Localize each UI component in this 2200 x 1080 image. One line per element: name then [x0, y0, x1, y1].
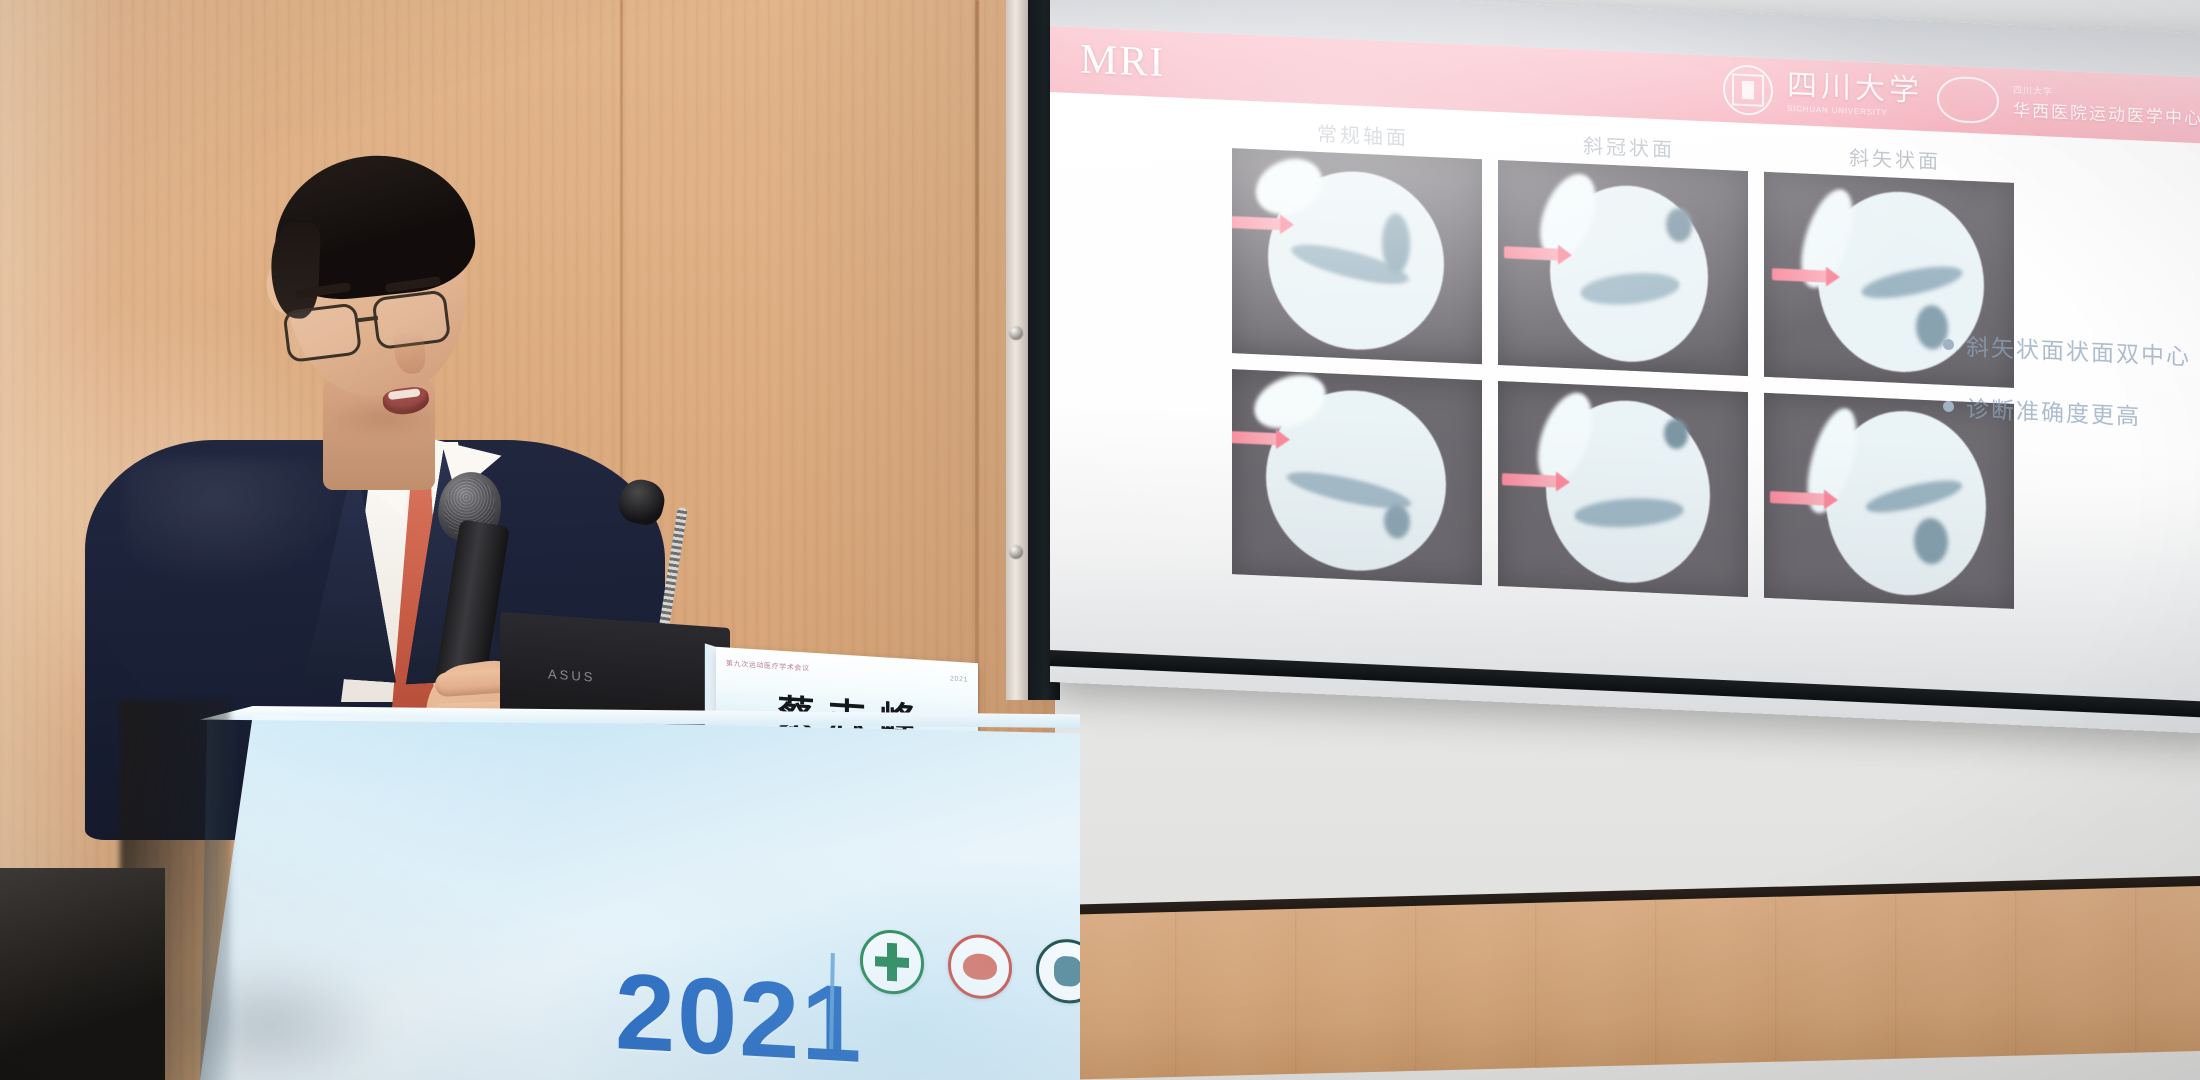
- mri-image: [1498, 381, 1748, 597]
- bullet-dot-icon: [1943, 400, 1954, 411]
- conference-year: 2021: [615, 948, 863, 1080]
- foreground-dark-corner: [0, 868, 165, 1080]
- screen-frame-highlight: [1006, 0, 1030, 700]
- slide-surface: MRI 四川大学 SICHUAN UNIVERSITY 四川大学 华西医院运动医…: [1050, 0, 2200, 734]
- mri-image: [1498, 160, 1748, 376]
- west-china-hospital-logo: 四川大学 华西医院运动医学中心: [2013, 83, 2200, 129]
- wood-wainscot: [1055, 886, 2200, 1080]
- university-seal-icon: [1723, 64, 1773, 116]
- frame-screw: [1009, 326, 1023, 340]
- slide-title: MRI: [1080, 35, 1165, 87]
- projection-screen: MRI 四川大学 SICHUAN UNIVERSITY 四川大学 华西医院运动医…: [1050, 0, 2200, 734]
- presentation-photo-stage: MRI 四川大学 SICHUAN UNIVERSITY 四川大学 华西医院运动医…: [0, 0, 2200, 1080]
- sichuan-university-logo: 四川大学 SICHUAN UNIVERSITY: [1787, 71, 1923, 119]
- column-caption-0: 常规轴面: [1230, 114, 1496, 155]
- bullet-item: 诊断准确度更高: [1943, 389, 2200, 436]
- namecard-header-left: 第九次运动医疗学术会议: [726, 659, 810, 675]
- slide-bullet-list: 斜矢状面状面双中心 诊断准确度更高: [1943, 327, 2200, 464]
- bullet-text: 斜矢状面状面双中心: [1966, 328, 2191, 372]
- mri-image: [1232, 148, 1482, 364]
- org-logo-teal-icon: [1036, 938, 1080, 1005]
- org-logo-red-icon: [948, 933, 1012, 1000]
- laptop-brand-label: ASUS: [548, 666, 595, 684]
- university-name-en: SICHUAN UNIVERSITY: [1787, 104, 1888, 117]
- organizer-logo-row: [860, 928, 1080, 1009]
- mri-image: [1232, 369, 1482, 585]
- column-caption-1: 斜冠状面: [1496, 126, 1762, 167]
- suit-highlight: [125, 460, 355, 590]
- namecard-header-right: 2021: [950, 675, 968, 683]
- bullet-item: 斜矢状面状面双中心: [1943, 327, 2200, 374]
- lens-left: [282, 302, 362, 363]
- hospital-emblem-icon: [1937, 76, 1999, 125]
- bullet-text: 诊断准确度更高: [1966, 390, 2141, 432]
- org-logo-green-icon: [860, 928, 924, 995]
- column-caption-2: 斜矢状面: [1762, 138, 2028, 179]
- frame-screw: [1009, 545, 1023, 559]
- mri-image-grid: [1232, 148, 2014, 609]
- university-name-cn: 四川大学: [1787, 71, 1923, 107]
- chin-shadow: [325, 398, 443, 438]
- hospital-name-cn: 华西医院运动医学中心: [2013, 96, 2200, 129]
- bullet-dot-icon: [1943, 338, 1954, 349]
